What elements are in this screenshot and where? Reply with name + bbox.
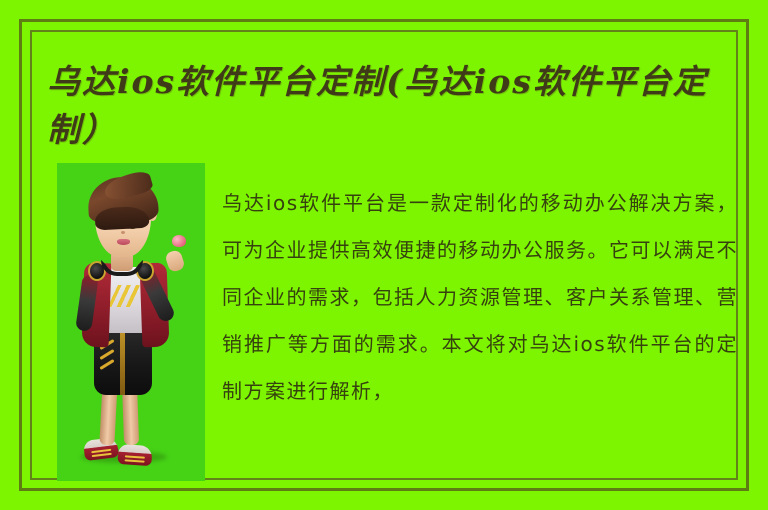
lollipop-icon <box>172 235 186 247</box>
raised-hand <box>164 249 185 273</box>
body-paragraph: 乌达ios软件平台是一款定制化的移动办公解决方案，可为企业提供高效便捷的移动办公… <box>222 180 738 415</box>
character-illustration <box>57 163 205 481</box>
shorts-gold-stripe <box>99 359 114 370</box>
body-block: 乌达ios软件平台是一款定制化的移动办公解决方案，可为企业提供高效便捷的移动办公… <box>222 180 738 415</box>
title-block: 乌达ios软件平台定制(乌达ios软件平台定制） <box>47 58 723 154</box>
nose <box>121 231 125 234</box>
shoe-stripe <box>125 455 145 458</box>
character-figure <box>57 163 205 481</box>
shoe-stripe <box>91 449 111 453</box>
page-title: 乌达ios软件平台定制(乌达ios软件平台定制） <box>47 58 723 154</box>
mouth <box>117 239 130 245</box>
poster-canvas: 乌达ios软件平台定制(乌达ios软件平台定制） 乌达ios软件平台是一款定制化… <box>0 0 768 510</box>
right-shoe <box>117 444 152 466</box>
